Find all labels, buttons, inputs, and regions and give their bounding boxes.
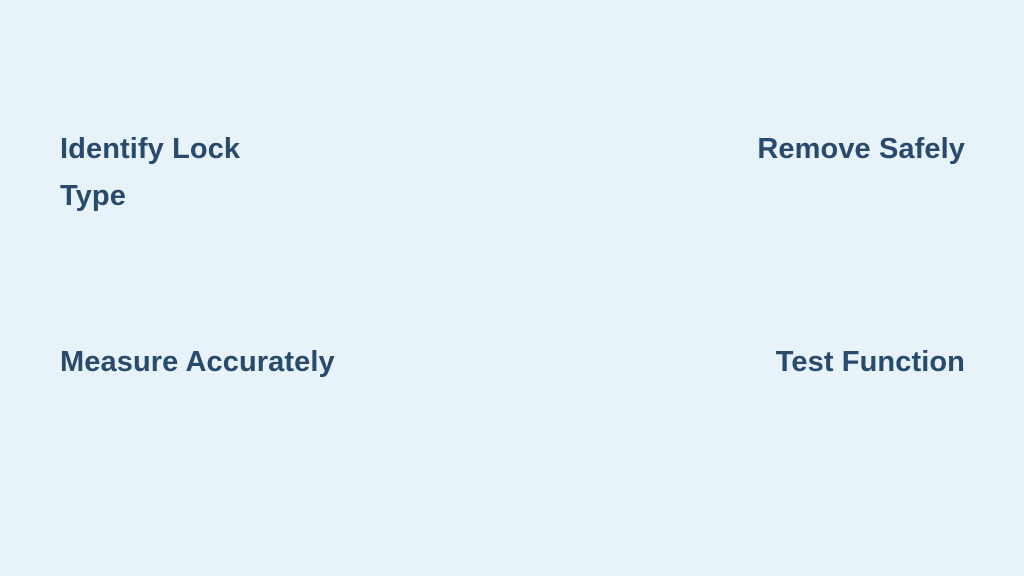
step-grid: Identify Lock Type Remove Safely Measure… xyxy=(0,0,1024,576)
step-identify-lock-type[interactable]: Identify Lock Type xyxy=(60,0,513,213)
step-remove-safely[interactable]: Remove Safely xyxy=(513,0,966,213)
diagram-canvas: Identify Lock Type Remove Safely Measure… xyxy=(0,0,1024,576)
grid-spacer-left xyxy=(60,426,513,576)
step-label-remove-safely: Remove Safely xyxy=(757,126,965,173)
step-label-test-function: Test Function xyxy=(776,339,965,386)
step-measure-accurately[interactable]: Measure Accurately xyxy=(60,213,513,426)
step-test-function[interactable]: Test Function xyxy=(513,213,966,426)
grid-spacer-right xyxy=(513,426,966,576)
step-label-identify-lock-type: Identify Lock Type xyxy=(60,126,240,220)
step-label-measure-accurately: Measure Accurately xyxy=(60,339,335,386)
